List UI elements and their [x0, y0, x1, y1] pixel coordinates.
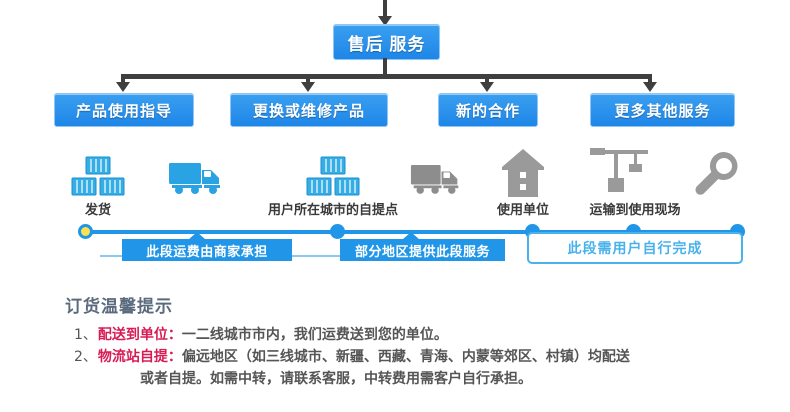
stage-label-pickup-point: 用户所在城市的自提点: [253, 199, 413, 218]
flow-node-product-guide[interactable]: 产品使用指导: [54, 93, 194, 127]
note-2-index: 2、: [74, 346, 97, 368]
timeline-dot-core: [81, 227, 90, 236]
flow-node-new-cooperation[interactable]: 新的合作: [438, 93, 538, 127]
stage-icon-cargo-boxes-blue-2: [305, 155, 361, 202]
stage-icon-crane: [588, 146, 650, 201]
stage-icon-house: [500, 148, 546, 203]
connector-arrow-4: [643, 82, 657, 92]
house-icon: [500, 148, 546, 198]
notes-title: 订货温馨提示: [65, 292, 762, 317]
timeline-tag-partial-region[interactable]: 部分地区提供此段服务: [340, 239, 505, 261]
stage-label-shipment: 发货: [58, 199, 138, 218]
timeline-tag-user-self[interactable]: 此段需用户自行完成: [527, 232, 743, 264]
note-1-body: 一二线城市市内，我们运费送到您的单位。: [182, 324, 448, 346]
flow-node-root[interactable]: 售后 服务: [333, 24, 440, 60]
wrench-icon: [694, 150, 740, 196]
note-2-body: 偏远地区（如三线城市、新疆、西藏、青海、内蒙等郊区、村镇）均配送: [182, 346, 630, 368]
flow-node-4-label: 更多其他服务: [614, 100, 710, 121]
stage-label-transport-to-site: 运输到使用现场: [570, 199, 700, 218]
note-1-index: 1、: [74, 324, 97, 346]
connector-arrow-1: [116, 82, 130, 92]
flow-node-1-label: 产品使用指导: [76, 100, 172, 121]
timeline-tag-3-label: 此段需用户自行完成: [568, 238, 703, 258]
flow-node-more-services[interactable]: 更多其他服务: [590, 93, 735, 127]
cargo-boxes-icon: [305, 155, 361, 197]
flow-node-replace-repair[interactable]: 更换或维修产品: [230, 93, 388, 127]
order-notes: 订货温馨提示 1、 配送到单位： 一二线城市市内，我们运费送到您的单位。 2、 …: [62, 292, 762, 390]
timeline-dot-2[interactable]: [330, 224, 345, 239]
crane-icon: [588, 146, 650, 196]
note-2-continuation: 或者自提。如需中转，请联系客服，中转费用需客户自行承担。: [140, 368, 762, 390]
flow-node-3-label: 新的合作: [456, 100, 520, 121]
stage-icon-wrench: [694, 150, 740, 201]
connector-bus: [121, 74, 650, 79]
after-sales-service-infographic: 售后 服务 产品使用指导 更换或维修产品 新的合作 更多其他服务: [0, 0, 790, 412]
cargo-boxes-icon: [70, 155, 126, 197]
connector-arrow-3: [480, 82, 494, 92]
tag-notch: [402, 232, 420, 240]
truck-icon: [168, 159, 224, 195]
flow-node-root-label: 售后 服务: [348, 30, 426, 55]
tag-notch: [188, 232, 206, 240]
stage-icon-truck-gray: [410, 161, 462, 200]
note-1-key: 配送到单位：: [98, 324, 182, 346]
timeline-dot-1[interactable]: [78, 224, 93, 239]
note-2-key: 物流站自提：: [98, 346, 182, 368]
timeline-tag-1-label: 此段运费由商家承担: [146, 241, 268, 260]
note-item-2: 2、 物流站自提： 偏远地区（如三线城市、新疆、西藏、青海、内蒙等郊区、村镇）均…: [74, 346, 762, 368]
timeline-tag-2-label: 部分地区提供此段服务: [355, 241, 490, 260]
timeline-tag-merchant-pays[interactable]: 此段运费由商家承担: [122, 239, 292, 261]
truck-gray-icon: [410, 161, 462, 195]
stage-icon-cargo-boxes-blue: [70, 155, 126, 202]
flow-node-2-label: 更换或维修产品: [253, 100, 365, 121]
stage-label-using-unit: 使用单位: [483, 199, 563, 218]
stage-icon-truck-blue: [168, 159, 224, 200]
connector-arrow-2: [301, 82, 315, 92]
note-item-1: 1、 配送到单位： 一二线城市市内，我们运费送到您的单位。: [74, 324, 762, 346]
